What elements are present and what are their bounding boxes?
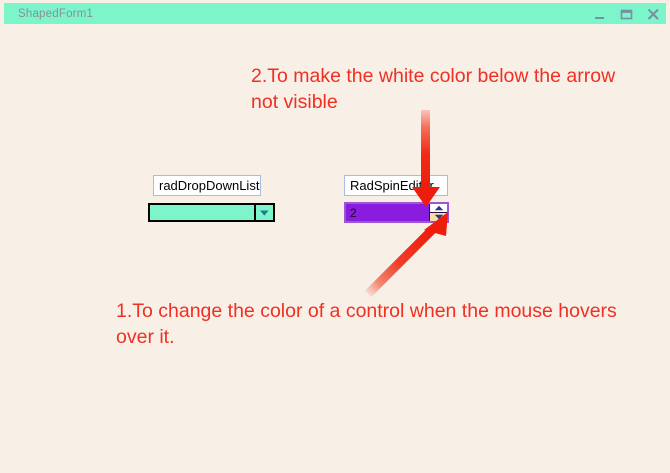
annotation-note-one: 1.To change the color of a control when … bbox=[116, 298, 656, 350]
raddropdownlist-dropdown-button[interactable] bbox=[254, 205, 273, 220]
annotation-note-two: 2.To make the white color below the arro… bbox=[251, 63, 641, 115]
radspineditor-control[interactable]: 2 bbox=[344, 202, 449, 223]
raddropdownlist-value[interactable] bbox=[150, 205, 254, 220]
label-radspineditor: RadSpinEditor bbox=[344, 175, 448, 196]
radspineditor-value[interactable]: 2 bbox=[346, 204, 429, 221]
spin-down-icon[interactable] bbox=[430, 213, 447, 222]
minimize-icon[interactable] bbox=[593, 7, 606, 21]
spin-up-icon[interactable] bbox=[430, 204, 447, 213]
window-title: ShapedForm1 bbox=[18, 8, 93, 20]
raddropdownlist-control[interactable] bbox=[148, 203, 275, 222]
title-bar: ShapedForm1 bbox=[4, 3, 666, 24]
shaped-form-window: ShapedForm1 2.To make the white c bbox=[0, 0, 670, 473]
label-raddropdownlist: radDropDownList bbox=[153, 175, 261, 196]
close-icon[interactable] bbox=[647, 7, 660, 21]
window-controls bbox=[593, 3, 660, 24]
radspineditor-spin-buttons bbox=[429, 204, 447, 221]
maximize-icon[interactable] bbox=[620, 7, 633, 21]
chevron-down-icon bbox=[259, 204, 270, 222]
